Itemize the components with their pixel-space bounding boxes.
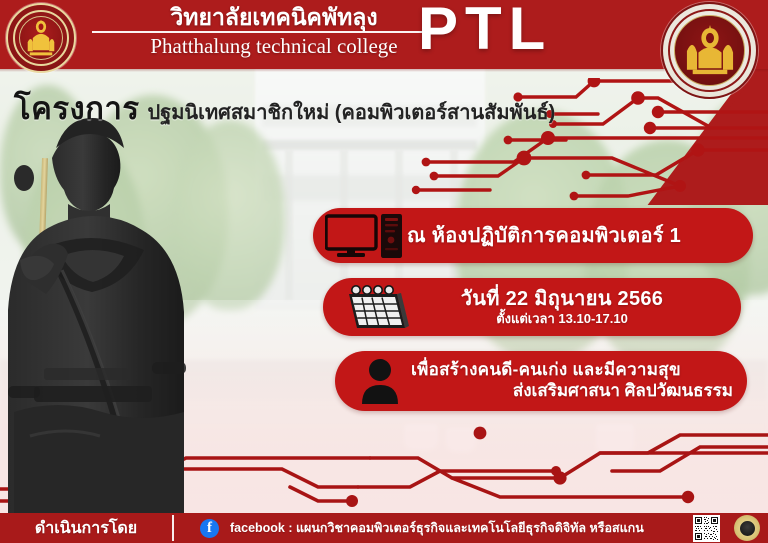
qr-code[interactable] [693, 515, 720, 542]
footer-facebook-text: facebook : แผนกวิชาคอมพิวเตอร์ธุรกิจและเ… [230, 518, 644, 538]
header-abbreviation: PTL [418, 0, 618, 60]
project-title: โครงการปฐมนิเทศสมาชิกใหม่ (คอมพิวเตอร์สา… [14, 83, 555, 133]
badge-date: วันที่ 22 มิถุนายน 2566 ตั้งแต่เวลา 13.1… [323, 278, 741, 336]
phatthalung-technical-college-seal [6, 3, 72, 69]
king-statue-photo [0, 100, 198, 513]
person-icon [349, 358, 411, 404]
facebook-icon[interactable]: f [200, 519, 219, 538]
header-title-thai: วิทยาลัยเทคนิคพัทลุง [74, 5, 474, 29]
badge-purpose-line1: เพื่อสร้างคนดี-คนเก่ง และมีความสุข [411, 361, 739, 380]
badge-date-line2: ตั้งแต่เวลา 13.10-17.10 [417, 312, 707, 326]
badge-location: ณ ห้องปฏิบัติการคอมพิวเตอร์ 1 [313, 208, 753, 263]
calendar-icon [337, 284, 417, 330]
department-emblem [734, 515, 760, 541]
poster: วิทยาลัยเทคนิคพัทลุง Phatthalung technic… [0, 0, 768, 543]
project-title-lead: โครงการ [14, 91, 140, 126]
footer-bar: ดำเนินการโดย f facebook : แผนกวิชาคอมพิว… [0, 513, 768, 543]
footer-divider [172, 515, 174, 541]
project-title-rest: ปฐมนิเทศสมาชิกใหม่ (คอมพิวเตอร์สานสัมพัน… [148, 102, 556, 124]
badge-date-text: วันที่ 22 มิถุนายน 2566 ตั้งแต่เวลา 13.1… [417, 288, 741, 326]
footer-left-label: ดำเนินการโดย [0, 516, 172, 541]
info-badges: ณ ห้องปฏิบัติการคอมพิวเตอร์ 1 [313, 208, 753, 411]
footer-facebook-info[interactable]: f facebook : แผนกวิชาคอมพิวเตอร์ธุรกิจแล… [174, 518, 693, 538]
badge-date-line1: วันที่ 22 มิถุนายน 2566 [417, 288, 707, 310]
badge-purpose-text: เพื่อสร้างคนดี-คนเก่ง และมีความสุข ส่งเส… [411, 361, 747, 400]
badge-location-text: ณ ห้องปฏิบัติการคอมพิวเตอร์ 1 [407, 225, 753, 247]
badge-purpose-line2: ส่งเสริมศาสนา ศิลปวัฒนธรรม [411, 382, 739, 401]
vocational-education-commission-seal [661, 2, 754, 95]
header-shadow [0, 69, 768, 72]
desktop-computer-icon [321, 214, 407, 258]
header-title-english: Phatthalung technical college [74, 33, 474, 59]
badge-purpose: เพื่อสร้างคนดี-คนเก่ง และมีความสุข ส่งเส… [335, 351, 747, 411]
badge-location-line1: ณ ห้องปฏิบัติการคอมพิวเตอร์ 1 [407, 225, 753, 247]
